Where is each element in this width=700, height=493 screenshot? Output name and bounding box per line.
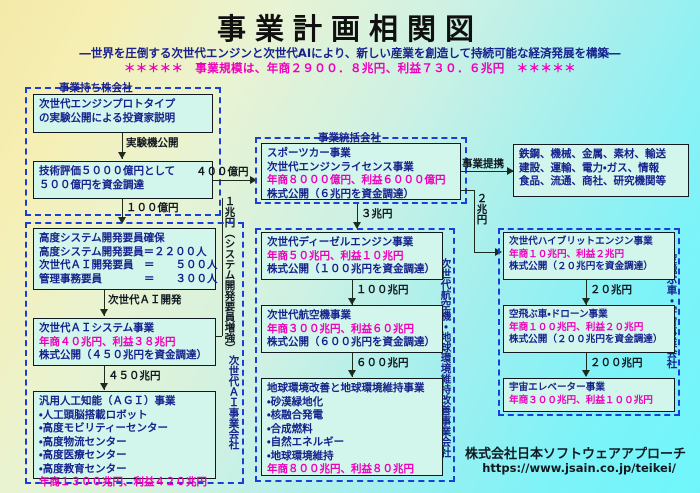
box-diesel-line3: 株式公開（１００兆円を資金調達） — [267, 263, 437, 277]
box-sportscar-line3: 年商８０００億円、利益６０００億円 — [267, 174, 455, 188]
arrow-label-demo: 実験機公開 — [126, 135, 179, 150]
box-staff-line1: 高度システム開発要員確保 — [39, 232, 210, 246]
box-prototype-line1: 次世代エンジンプロトタイプ — [39, 98, 207, 112]
box-funding-line1: 技術評価５０００億円として — [39, 165, 207, 179]
arrowhead-ai-system-agi — [100, 383, 108, 390]
box-hybrid-line2: 年商１０兆円、利益２兆円 — [509, 249, 669, 262]
box-flyingcar-line3: 株式公開（２００兆円を資金調達） — [509, 334, 669, 347]
box-staff-line2: 高度システム開発要員＝２２００人 — [39, 246, 210, 260]
box-agi-line6: ・高度教育センター — [39, 463, 210, 477]
box-aircraft-line2: 年商３００兆円、利益６０兆円 — [267, 323, 437, 337]
arrow-label-450cho: ４５０兆円 — [108, 368, 161, 383]
box-diesel-line1: 次世代ディーゼルエンジン事業 — [267, 236, 437, 250]
box-environment: 地球環境改善と地球環境維持事業 ・砂漠緑地化 ・核融合発電 ・合成燃料 ・自然エ… — [261, 378, 443, 476]
box-agi-line3: ・高度モビリティーセンター — [39, 422, 210, 436]
box-agi-line1: 汎用人工知能（ＡＧＩ）事業 — [39, 395, 210, 409]
box-space-elevator: 宇宙エレベーター事業 年商３００兆円、利益１００兆円 — [503, 378, 675, 412]
box-partners-line1: 鉄鋼、機械、金属、素材、輸送 — [519, 148, 683, 162]
page-subtitle: ―世界を圧倒する次世代エンジンと次世代AIにより、新しい産業を創造して持続可能な… — [0, 45, 700, 61]
box-flyingcar-line1: 空飛ぶ車・ドローン事業 — [509, 309, 669, 322]
box-partners: 鉄鋼、機械、金属、素材、輸送 建設、運輸、電力・ガス、情報 食品、流通、商社、研… — [513, 144, 689, 197]
box-environment-line6: ・地球環境維持 — [267, 450, 437, 464]
arrow-label-200cho: ２００兆円 — [590, 355, 643, 370]
box-aircraft-line1: 次世代航空機事業 — [267, 309, 437, 323]
box-prototype-line2: の実験公開による投資家説明 — [39, 112, 207, 126]
arrow-label-3cho: ３兆円 — [361, 206, 393, 221]
box-partners-line2: 建設、運輸、電力・ガス、情報 — [519, 162, 683, 176]
box-prototype: 次世代エンジンプロトタイプ の実験公開による投資家説明 — [33, 94, 213, 133]
box-sportscar-line1: スポーツカー事業 — [267, 147, 455, 161]
box-flyingcar: 空飛ぶ車・ドローン事業 年商１００兆円、利益２０兆円 株式公開（２００兆円を資金… — [503, 305, 675, 353]
box-environment-line7: 年商８００兆円、利益８０兆円 — [267, 463, 437, 477]
arrowhead-diesel-aircraft — [348, 298, 356, 305]
arrow-label-2cho: ２兆円 — [476, 193, 487, 225]
box-environment-line4: ・合成燃料 — [267, 423, 437, 437]
box-aircraft: 次世代航空機事業 年商３００兆円、利益６０兆円 株式公開（６００兆円を資金調達） — [261, 305, 443, 353]
business-scale-line: ＊＊＊＊＊ 事業規模は、年商２９００．８兆円、利益７３０．６兆円 ＊＊＊＊＊ — [0, 60, 700, 76]
box-ai-system: 次世代ＡＩシステム事業 年商４０兆円、利益３８兆円 株式公開（４５０兆円を資金調… — [33, 318, 216, 366]
box-environment-line3: ・核融合発電 — [267, 409, 437, 423]
arrow-label-400oku: ４００億円 — [196, 164, 249, 179]
box-staff: 高度システム開発要員確保 高度システム開発要員＝２２００人 次世代ＡＩ開発要員 … — [33, 228, 216, 290]
arrow-label-ai-dev: 次世代ＡＩ開発 — [108, 292, 182, 307]
box-ai-system-line3: 株式公開（４５０兆円を資金調達） — [39, 349, 210, 363]
box-agi-line2: ・人工頭脳搭載ロボット — [39, 409, 210, 423]
box-diesel: 次世代ディーゼルエンジン事業 年商５０兆円、利益１０兆円 株式公開（１００兆円を… — [261, 232, 443, 280]
box-environment-line5: ・自然エネルギー — [267, 436, 437, 450]
connector-sportscar-hybrid-h1 — [461, 190, 474, 191]
group-holding-company-label: 事業持ち株会社 — [57, 80, 135, 95]
arrowhead-hybrid-flyingcar — [582, 298, 590, 305]
box-ai-system-line2: 年商４０兆円、利益３８兆円 — [39, 336, 210, 350]
page-title: 事業計画相関図 — [0, 6, 700, 48]
box-environment-line1: 地球環境改善と地球環境維持事業 — [267, 382, 437, 396]
box-ai-system-line1: 次世代ＡＩシステム事業 — [39, 322, 210, 336]
arrow-label-20cho: ２０兆円 — [590, 282, 632, 297]
arrow-label-100oku: １００億円 — [126, 200, 179, 215]
connector-sportscar-partners — [461, 171, 513, 172]
footer-url[interactable]: https://www.jsain.co.jp/teikei/ — [482, 461, 676, 475]
diagram-canvas: 事業計画相関図 ―世界を圧倒する次世代エンジンと次世代AIにより、新しい産業を創… — [0, 0, 700, 493]
connector-sportscar-hybrid-v — [474, 190, 475, 252]
box-aircraft-line3: 株式公開（６００兆円を資金調達） — [267, 336, 437, 350]
arrow-label-600cho: ６００兆円 — [356, 355, 409, 370]
box-hybrid-line3: 株式公開（２０兆円を資金調達） — [509, 261, 669, 274]
arrowhead-staff-ai-system — [100, 309, 108, 316]
box-flyingcar-line2: 年商１００兆円、利益２０兆円 — [509, 322, 669, 335]
box-staff-line3: 次世代ＡＩ開発要員 ＝ ５００人 — [39, 259, 210, 273]
box-sportscar: スポーツカー事業 次世代エンジンライセンス事業 年商８０００億円、利益６０００億… — [261, 143, 461, 200]
box-space-elevator-line1: 宇宙エレベーター事業 — [509, 382, 669, 395]
box-agi-line7: 年商１３００兆円、利益４２０兆円 — [39, 476, 210, 490]
box-hybrid: 次世代ハイブリットエンジン事業 年商１０兆円、利益２兆円 株式公開（２０兆円を資… — [503, 232, 675, 280]
arrowhead-prototype-funding — [118, 152, 126, 159]
arrowhead-flyingcar-space — [582, 370, 590, 377]
box-space-elevator-line2: 年商３００兆円、利益１００兆円 — [509, 395, 669, 408]
arrow-label-100cho: １００兆円 — [356, 282, 409, 297]
box-agi-line5: ・高度医療センター — [39, 449, 210, 463]
box-staff-line4: 管理事務要員 ＝ ３００人 — [39, 273, 210, 287]
box-funding-line2: ５００億円を資金調達 — [39, 179, 207, 193]
box-environment-line2: ・砂漠緑地化 — [267, 396, 437, 410]
group-ai-company-label: 次世代ＡＩ事業会社 — [228, 355, 239, 450]
arrowhead-aircraft-environment — [348, 370, 356, 377]
box-hybrid-line1: 次世代ハイブリットエンジン事業 — [509, 236, 669, 249]
box-agi-line4: ・高度物流センター — [39, 436, 210, 450]
box-partners-line3: 食品、流通、商社、研究機関等 — [519, 175, 683, 189]
footer-company-name: 株式会社日本ソフトウェアアプローチ — [465, 443, 686, 462]
box-sportscar-line2: 次世代エンジンライセンス事業 — [267, 161, 455, 175]
box-diesel-line2: 年商５０兆円、利益１０兆円 — [267, 250, 437, 264]
arrow-label-alliance: 事業提携 — [462, 156, 504, 171]
box-agi: 汎用人工知能（ＡＧＩ）事業 ・人工頭脳搭載ロボット ・高度モビリティーセンター … — [33, 391, 216, 479]
box-sportscar-line4: 株式公開（６兆円を資金調達） — [267, 188, 455, 202]
box-funding: 技術評価５０００億円として ５００億円を資金調達 — [33, 161, 213, 199]
